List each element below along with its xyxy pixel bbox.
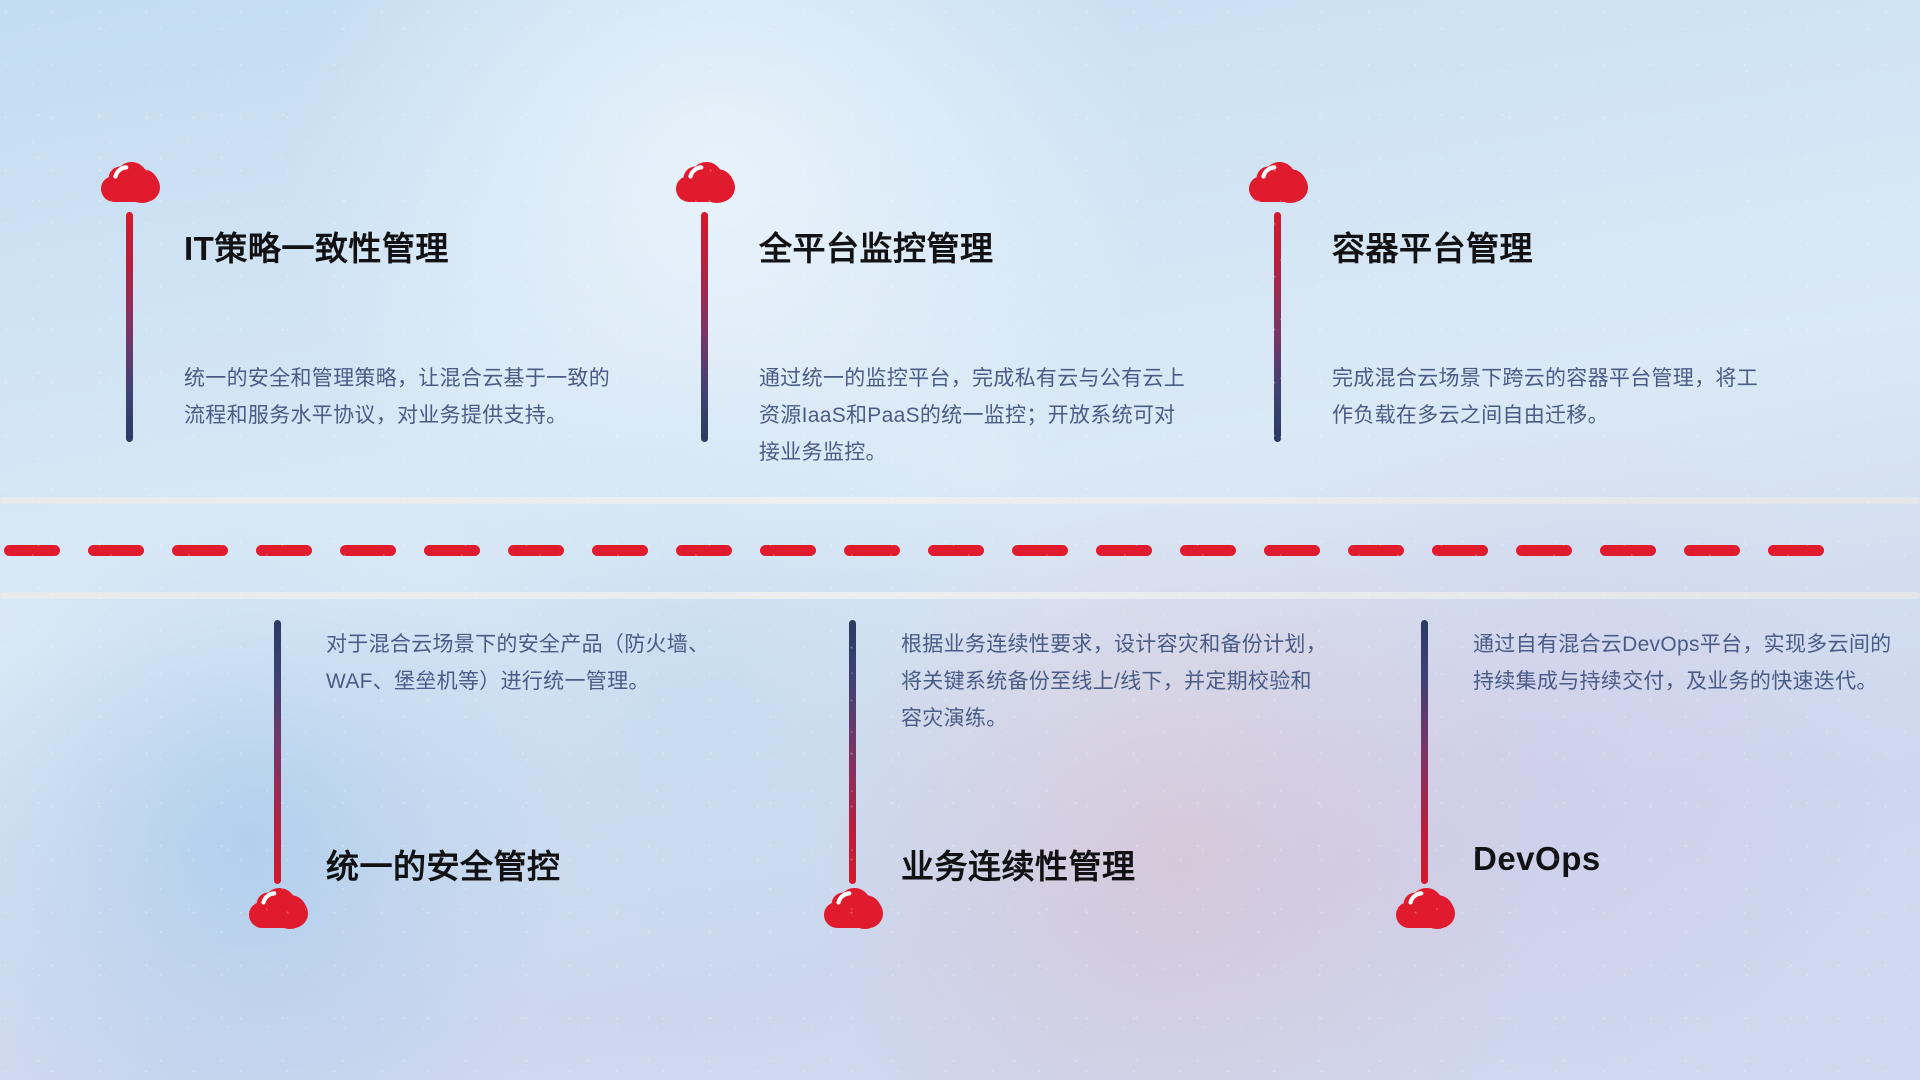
divider-dash — [1432, 545, 1488, 556]
stem-line-bottom-1 — [274, 620, 281, 884]
divider-dash — [760, 545, 816, 556]
divider-dash — [256, 545, 312, 556]
stem-line-bottom-3 — [1421, 620, 1428, 884]
divider-dash — [1768, 545, 1824, 556]
cloud-icon — [823, 886, 887, 938]
cloud-icon — [248, 886, 312, 938]
divider-dash — [1684, 545, 1740, 556]
divider-dash — [172, 545, 228, 556]
divider-dash — [88, 545, 144, 556]
bottom-body-1: 对于混合云场景下的安全产品（防火墙、WAF、堡垒机等）进行统一管理。 — [326, 626, 756, 700]
cloud-icon — [100, 160, 164, 212]
divider-dash — [340, 545, 396, 556]
divider-dash — [424, 545, 480, 556]
top-heading-1: IT策略一致性管理 — [184, 222, 449, 270]
bottom-heading-3: DevOps — [1473, 840, 1601, 878]
divider-dash — [928, 545, 984, 556]
divider-dash — [676, 545, 732, 556]
top-body-1: 统一的安全和管理策略，让混合云基于一致的流程和服务水平协议，对业务提供支持。 — [184, 360, 614, 434]
stem-line-top-3 — [1274, 212, 1281, 442]
cloud-icon — [1248, 160, 1312, 212]
divider-dash — [508, 545, 564, 556]
top-body-2: 通过统一的监控平台，完成私有云与公有云上资源IaaS和PaaS的统一监控；开放系… — [759, 360, 1189, 471]
infographic-canvas: IT策略一致性管理 统一的安全和管理策略，让混合云基于一致的流程和服务水平协议，… — [0, 0, 1920, 1080]
top-heading-3: 容器平台管理 — [1332, 222, 1533, 270]
divider-dash — [1180, 545, 1236, 556]
dashed-red-divider — [0, 545, 1920, 556]
bottom-body-2: 根据业务连续性要求，设计容灾和备份计划，将关键系统备份至线上/线下，并定期校验和… — [901, 626, 1331, 737]
cloud-icon — [675, 160, 739, 212]
bottom-heading-2: 业务连续性管理 — [901, 840, 1136, 888]
divider-dash — [1096, 545, 1152, 556]
stem-line-bottom-2 — [849, 620, 856, 884]
bottom-body-3: 通过自有混合云DevOps平台，实现多云间的持续集成与持续交付，及业务的快速迭代… — [1473, 626, 1903, 700]
top-body-3: 完成混合云场景下跨云的容器平台管理，将工作负载在多云之间自由迁移。 — [1332, 360, 1762, 434]
stem-line-top-2 — [701, 212, 708, 442]
divider-dash — [1348, 545, 1404, 556]
divider-dash — [1012, 545, 1068, 556]
divider-dash — [1264, 545, 1320, 556]
stem-line-top-1 — [126, 212, 133, 442]
bottom-heading-1: 统一的安全管控 — [326, 840, 561, 888]
divider-dash — [1600, 545, 1656, 556]
divider-dash — [1516, 545, 1572, 556]
divider-dash — [592, 545, 648, 556]
top-heading-2: 全平台监控管理 — [759, 222, 994, 270]
cloud-icon — [1395, 886, 1459, 938]
divider-line-lower — [0, 592, 1920, 599]
divider-line-upper — [0, 497, 1920, 504]
divider-dash — [4, 545, 60, 556]
divider-dash — [844, 545, 900, 556]
